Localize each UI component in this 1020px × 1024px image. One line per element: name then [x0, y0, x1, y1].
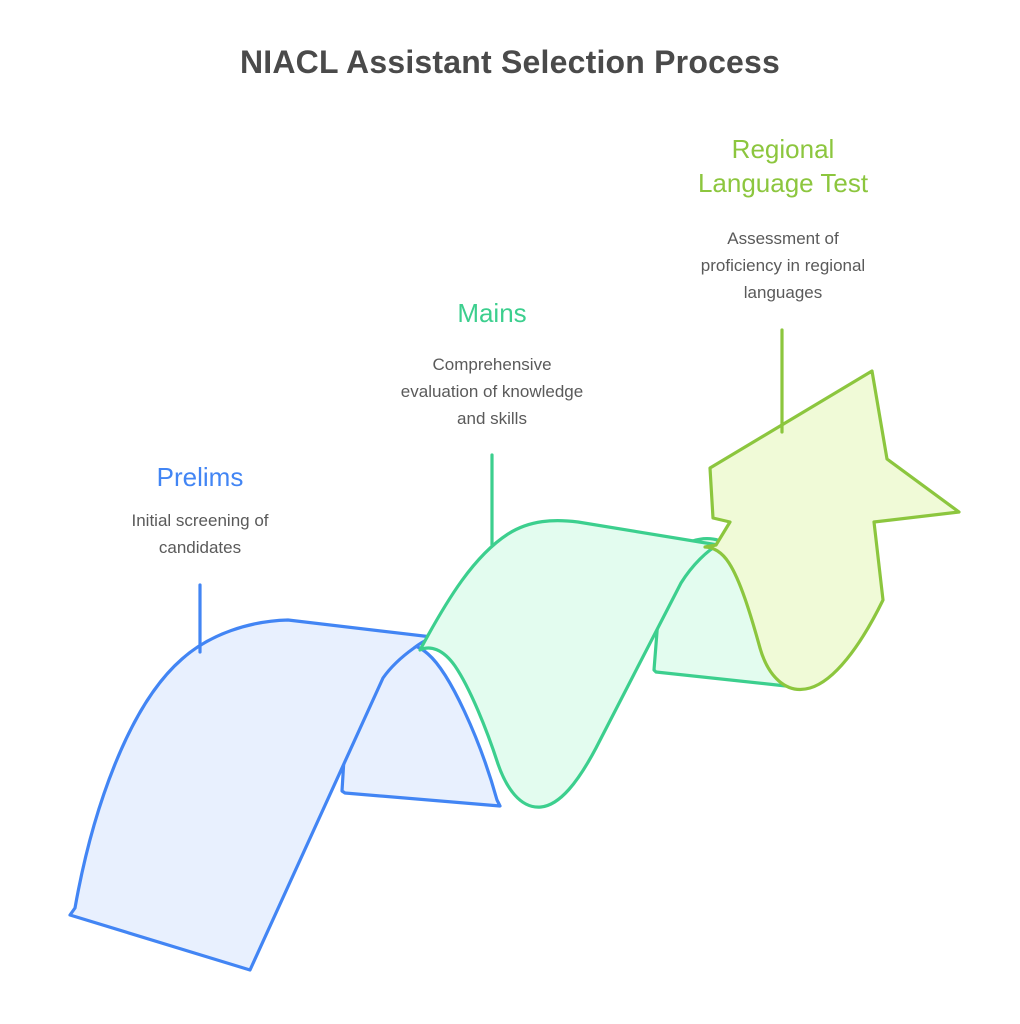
stage-description-mains: Comprehensive evaluation of knowledge an… — [362, 352, 622, 433]
page-title: NIACL Assistant Selection Process — [0, 44, 1020, 81]
stage-label-regional-language-test: Regional Language Test — [668, 132, 898, 201]
stage-label-mains: Mains — [377, 296, 607, 330]
stage-label-prelims: Prelims — [85, 460, 315, 494]
stage-description-regional-language-test: Assessment of proficiency in regional la… — [658, 226, 908, 307]
stage-description-prelims: Initial screening of candidates — [75, 508, 325, 562]
